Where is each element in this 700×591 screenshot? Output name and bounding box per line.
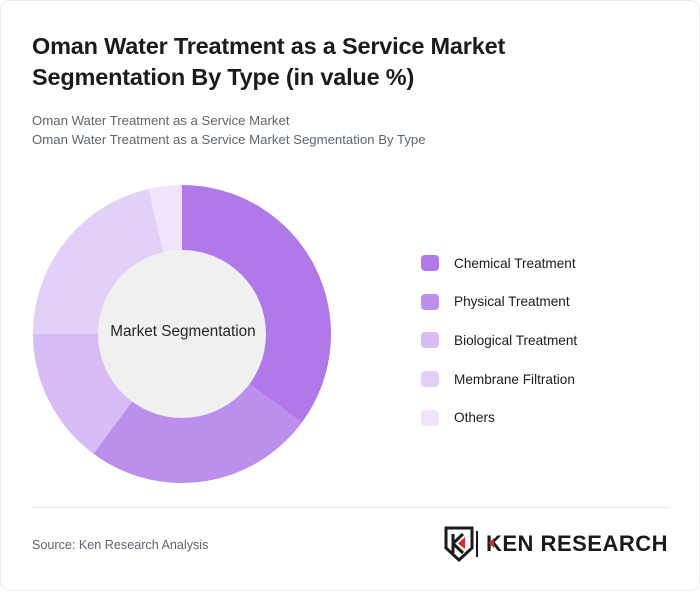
legend-color-swatch <box>421 371 439 387</box>
footer-divider <box>32 507 670 508</box>
subtitle-line-2: Oman Water Treatment as a Service Market… <box>32 130 652 149</box>
page-title: Oman Water Treatment as a Service Market… <box>32 31 652 94</box>
ken-research-wordmark: KEN RESEARCH <box>476 530 691 558</box>
legend-color-swatch <box>421 294 439 310</box>
legend-item[interactable]: Membrane Filtration <box>421 360 661 399</box>
chart-header: Oman Water Treatment as a Service Market… <box>32 31 652 149</box>
source-attribution: Source: Ken Research Analysis <box>32 538 208 552</box>
legend-color-swatch <box>421 255 439 271</box>
legend-item[interactable]: Biological Treatment <box>421 321 661 360</box>
legend-item-label: Physical Treatment <box>454 294 570 309</box>
legend-item-label: Membrane Filtration <box>454 372 575 387</box>
legend-color-swatch <box>421 332 439 348</box>
ken-research-shield-icon <box>444 526 474 562</box>
subtitle-line-1: Oman Water Treatment as a Service Market <box>32 111 652 130</box>
chart-card: Oman Water Treatment as a Service Market… <box>0 0 700 591</box>
donut-center-label: Market Segmentation <box>97 323 269 341</box>
subtitle-block: Oman Water Treatment as a Service Market… <box>32 111 652 150</box>
legend-color-swatch <box>421 410 439 426</box>
legend-item-label: Chemical Treatment <box>454 256 576 271</box>
legend-item-label: Biological Treatment <box>454 333 577 348</box>
legend-item-label: Others <box>454 410 495 425</box>
legend-item[interactable]: Others <box>421 398 661 437</box>
legend-item[interactable]: Chemical Treatment <box>421 244 661 283</box>
svg-text:KEN RESEARCH: KEN RESEARCH <box>486 531 668 556</box>
ken-research-logo: KEN RESEARCH <box>444 525 691 563</box>
chart-legend: Chemical TreatmentPhysical TreatmentBiol… <box>421 244 661 437</box>
legend-item[interactable]: Physical Treatment <box>421 283 661 322</box>
